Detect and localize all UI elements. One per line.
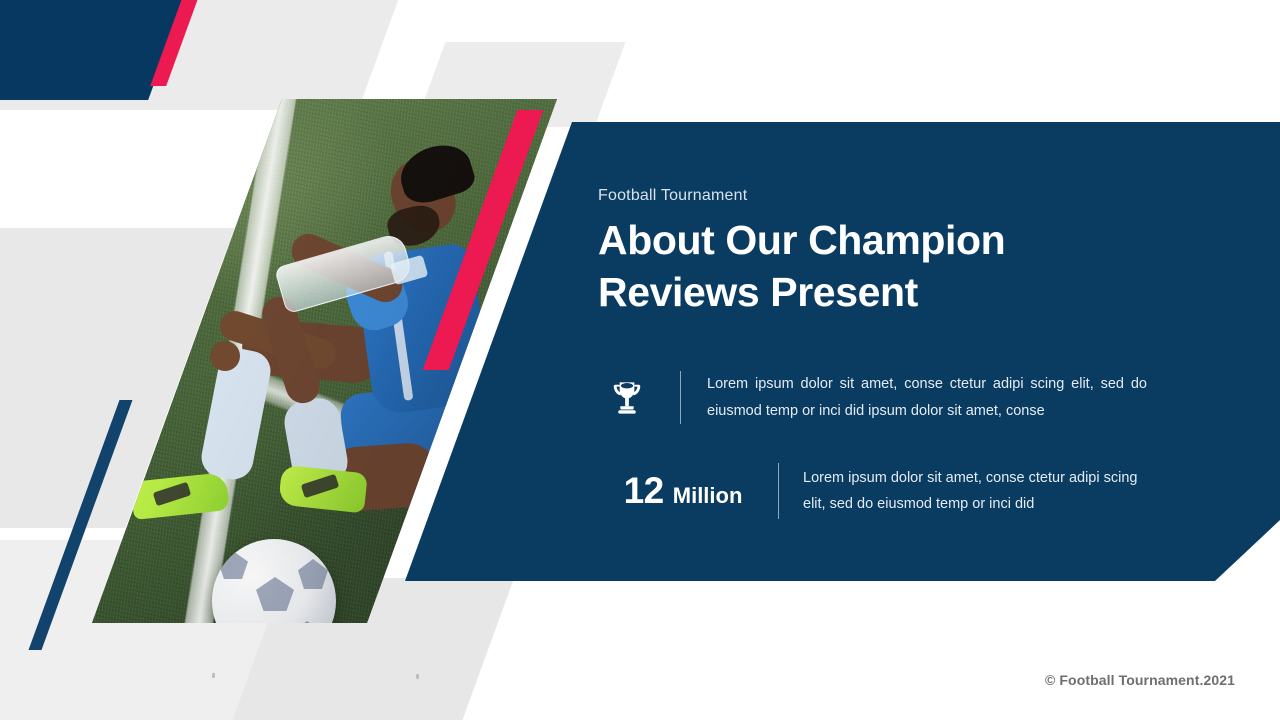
feature-description: Lorem ipsum dolor sit amet, conse ctetur… <box>707 371 1147 424</box>
statistic-row: 12 Million Lorem ipsum dolor sit amet, c… <box>598 463 1240 519</box>
headline-line-2: Reviews Present <box>598 269 918 315</box>
decorative-dot <box>212 673 215 678</box>
slide-eyebrow: Football Tournament <box>598 187 1240 205</box>
footer-copyright: © Football Tournament.2021 <box>1045 672 1235 688</box>
feature-divider <box>680 371 681 424</box>
statistic-description: Lorem ipsum dolor sit amet, conse ctetur… <box>803 465 1143 518</box>
statistic-value: 12 Million <box>598 470 768 512</box>
presentation-slide: Football Tournament About Our Champion R… <box>0 0 1280 720</box>
statistic-unit: Million <box>673 483 743 509</box>
page-title: About Our Champion Reviews Present <box>598 214 1240 318</box>
trophy-icon <box>598 376 656 420</box>
feature-row: Lorem ipsum dolor sit amet, conse ctetur… <box>598 371 1240 424</box>
statistic-number: 12 <box>624 470 664 512</box>
headline-line-1: About Our Champion <box>598 217 1005 263</box>
panel-content: Football Tournament About Our Champion R… <box>598 187 1240 519</box>
decorative-dot <box>416 674 419 679</box>
statistic-divider <box>778 463 779 519</box>
